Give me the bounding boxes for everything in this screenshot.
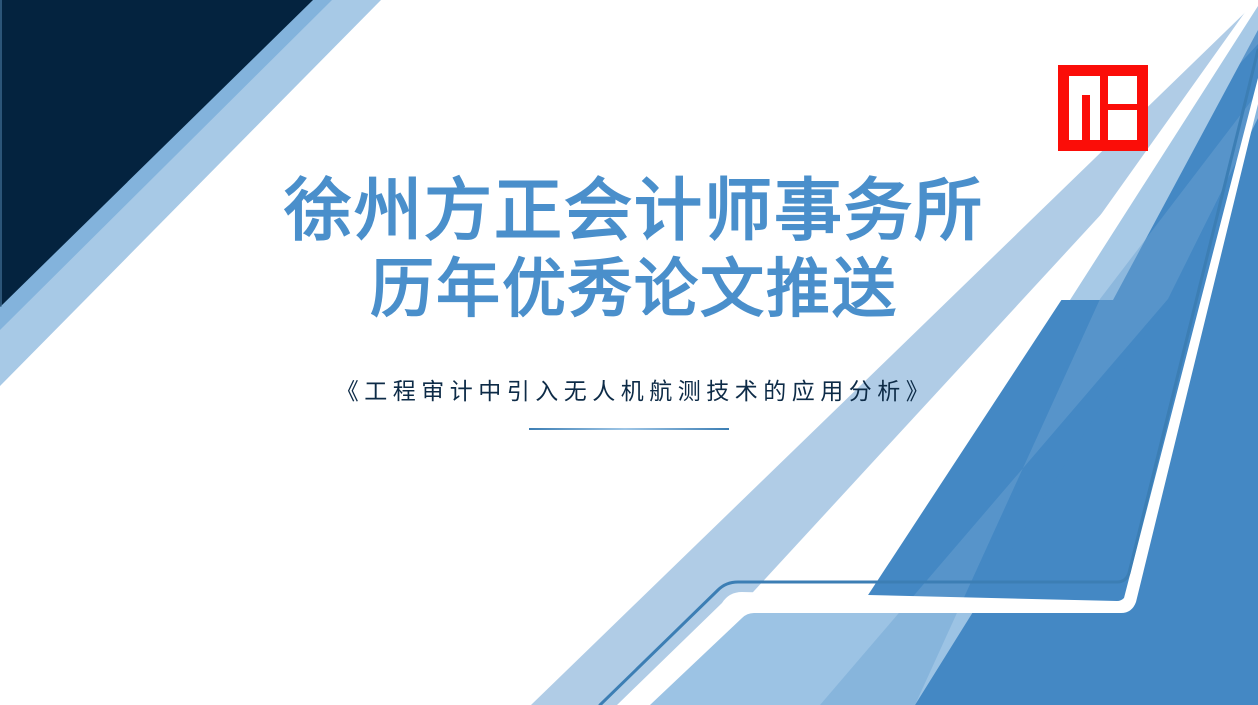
page-title-line-1: 徐州方正会计师事务所 [0, 178, 1258, 246]
logo-cut-left-right [1090, 76, 1100, 140]
divider-container [0, 428, 1258, 430]
page-title-line-2: 历年优秀论文推送 [0, 258, 1258, 322]
logo-mark-icon [1058, 65, 1148, 151]
slide-canvas: 徐州方正会计师事务所 历年优秀论文推送 《工程审计中引入无人机航测技术的应用分析… [0, 0, 1258, 705]
company-logo [1058, 65, 1148, 151]
logo-cut-right-bottom [1108, 110, 1137, 140]
divider-rule [529, 428, 729, 430]
title-block: 徐州方正会计师事务所 历年优秀论文推送 《工程审计中引入无人机航测技术的应用分析… [0, 178, 1258, 430]
logo-cut-right-top [1108, 76, 1137, 104]
page-subtitle: 《工程审计中引入无人机航测技术的应用分析》 [0, 372, 1258, 406]
